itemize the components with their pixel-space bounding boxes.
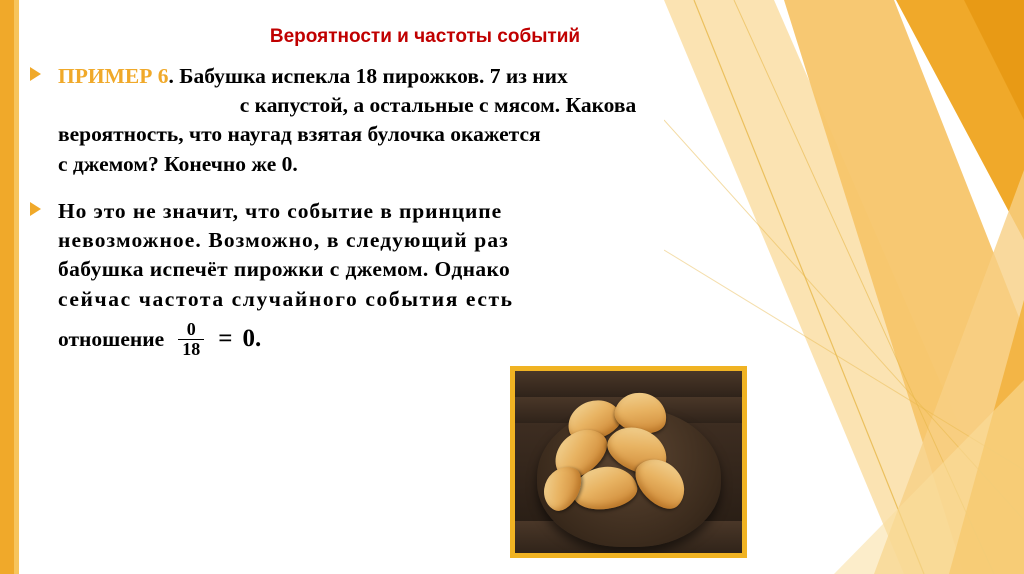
paragraph1-line2: с капустой, а остальные с мясом. Какова (58, 91, 818, 120)
paragraph2-line4: сейчас частота случайного события есть (58, 285, 818, 314)
bullet-triangle-icon (30, 67, 41, 81)
formula-result: 0. (242, 325, 261, 353)
example-label: ПРИМЕР 6 (58, 64, 168, 88)
paragraph1-line3: вероятность, что наугад взятая булочка о… (58, 120, 818, 149)
paragraph2-line3: бабушка испечёт пирожки с джемом. Однако (58, 255, 818, 284)
frequency-formula: отношение 0 18 = 0. (28, 320, 818, 359)
left-accent-bar-secondary (14, 0, 19, 574)
left-accent-bar (0, 0, 14, 574)
paragraph2-line1: Но это не значит, что событие в принципе (58, 197, 818, 226)
paragraph-example-6: ПРИМЕР 6. Бабушка испекла 18 пирожков. 7… (28, 62, 818, 179)
paragraph1-line1: ПРИМЕР 6. Бабушка испекла 18 пирожков. 7… (58, 62, 818, 91)
fraction-numerator: 0 (178, 320, 204, 339)
fraction-denominator: 18 (178, 339, 204, 359)
page-title: Вероятности и частоты событий (0, 26, 850, 48)
paragraph1-line1-rest: . Бабушка испекла 18 пирожков. 7 из них (168, 64, 567, 88)
bullet-triangle-icon-2 (30, 202, 41, 216)
paragraph-explanation: Но это не значит, что событие в принципе… (28, 197, 818, 314)
formula-prefix-label: отношение (58, 327, 164, 352)
paragraph1-line2-text: с капустой, а остальные с мясом. Какова (240, 91, 637, 120)
paragraph2-line2: невозможное. Возможно, в следующий раз (58, 226, 818, 255)
slide: Вероятности и частоты событий ПРИМЕР 6. … (0, 0, 1024, 574)
pirozhki-photo (510, 366, 747, 558)
slide-body: ПРИМЕР 6. Бабушка испекла 18 пирожков. 7… (28, 62, 818, 359)
paragraph1-line4: с джемом? Конечно же 0. (58, 150, 818, 179)
equals-sign: = (218, 325, 232, 353)
fraction: 0 18 (178, 320, 204, 359)
